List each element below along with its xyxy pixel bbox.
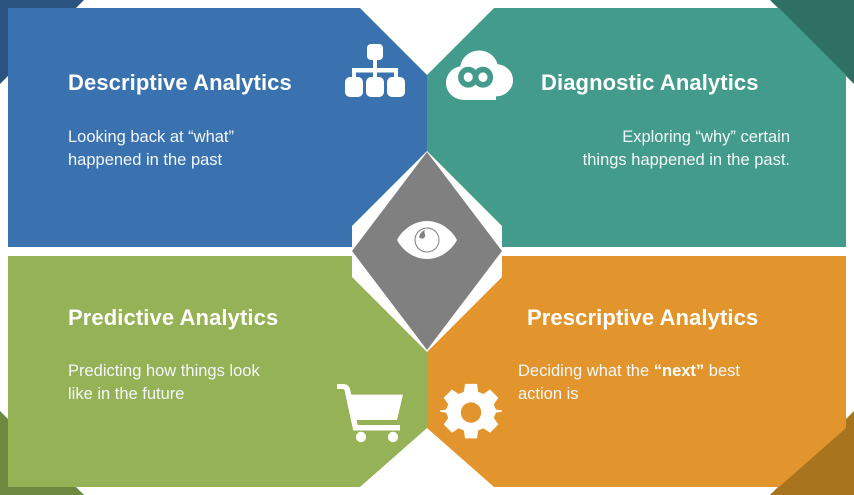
quadrant-title-predictive: Predictive Analytics <box>68 306 278 330</box>
quadrant-description-predictive: Predicting how things look like in the f… <box>68 360 260 407</box>
analytics-four-types-diagram: Descriptive Analytics Looking back at “w… <box>0 0 854 495</box>
shopping-cart-icon <box>334 381 406 443</box>
hierarchy-icon <box>344 44 406 102</box>
cloud-infinity-icon <box>445 46 515 102</box>
quadrant-title-diagnostic: Diagnostic Analytics <box>541 71 759 95</box>
quadrant-description-diagnostic: Exploring “why” certain things happened … <box>540 126 790 173</box>
quadrant-title-descriptive: Descriptive Analytics <box>68 71 292 95</box>
quadrant-description-prescriptive: Deciding what the “next” best action is <box>518 360 740 407</box>
quadrant-description-descriptive: Looking back at “what” happened in the p… <box>68 126 234 173</box>
gear-icon <box>440 382 502 444</box>
quadrant-title-prescriptive: Prescriptive Analytics <box>527 306 758 330</box>
eye-icon <box>396 215 458 265</box>
